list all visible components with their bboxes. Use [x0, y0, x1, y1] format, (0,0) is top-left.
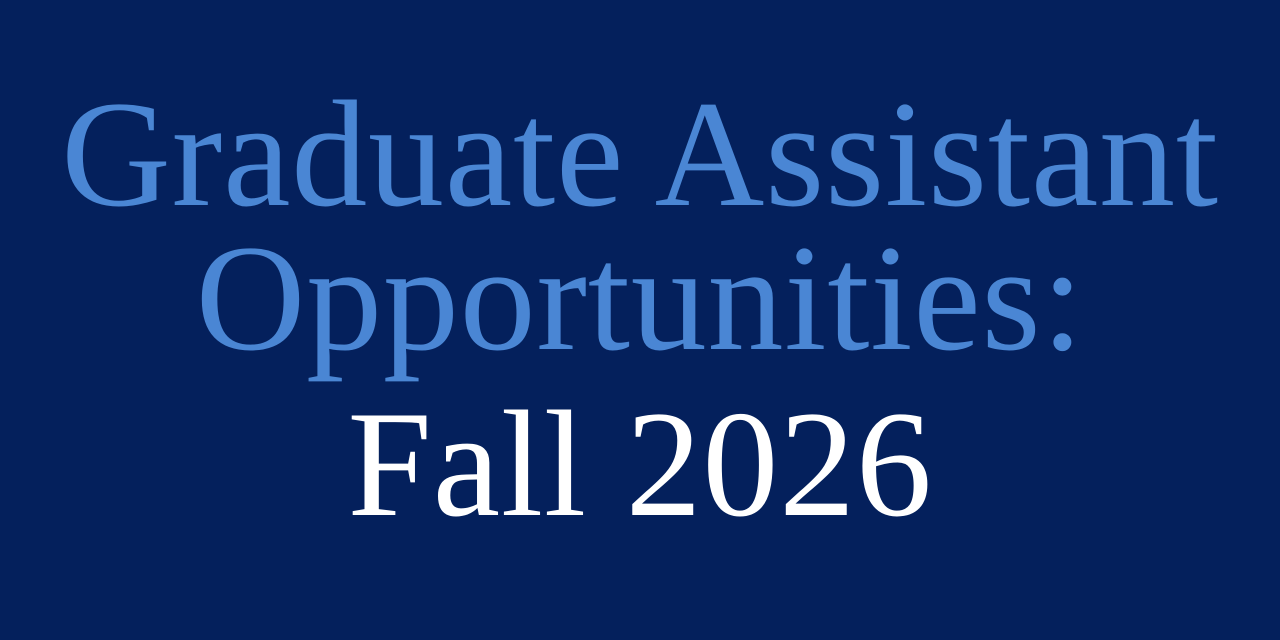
title-line-graduate-assistant: Graduate Assistant [0, 78, 1280, 230]
title-slide: Graduate Assistant Opportunities: Fall 2… [0, 0, 1280, 640]
title-line-term-year: Fall 2026 [0, 388, 1280, 540]
title-line-opportunities: Opportunities: [0, 222, 1280, 374]
